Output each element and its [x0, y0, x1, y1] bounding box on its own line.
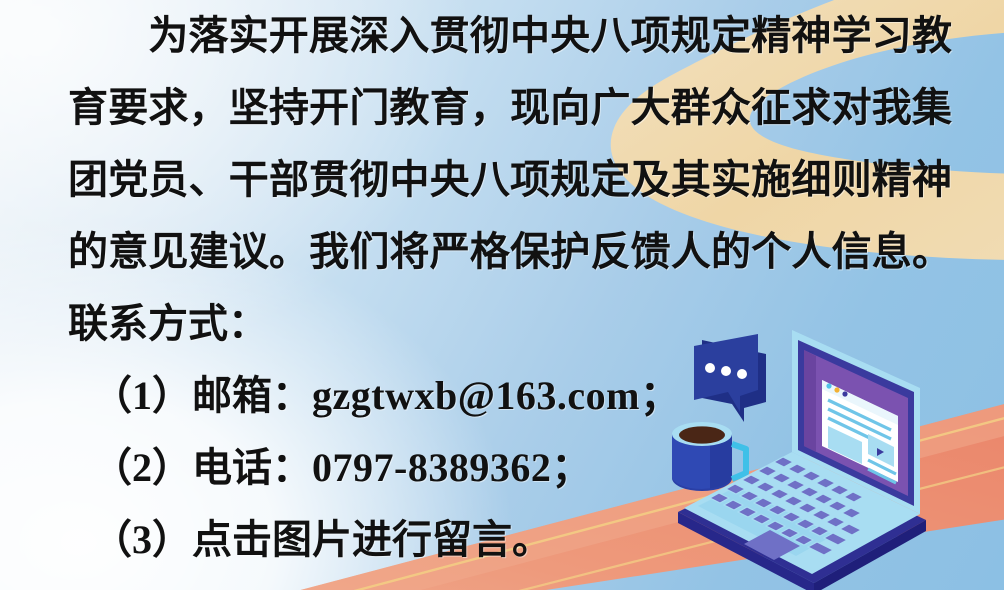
contact-item-email-label: 邮箱： — [192, 373, 312, 418]
contact-item-phone-marker: （2） — [92, 445, 192, 490]
contact-item-email-marker: （1） — [92, 373, 192, 418]
body-paragraph-text: 为落实开展深入贯彻中央八项规定精神学习教育要求，坚持开门教育，现向广大群众征求对… — [68, 13, 952, 274]
body-paragraph: 为落实开展深入贯彻中央八项规定精神学习教育要求，坚持开门教育，现向广大群众征求对… — [0, 0, 1004, 288]
coffee-mug-icon — [672, 422, 746, 491]
contact-item-image-label: 点击图片进行留言。 — [192, 517, 552, 562]
poster-canvas: 为落实开展深入贯彻中央八项规定精神学习教育要求，坚持开门教育，现向广大群众征求对… — [0, 0, 1004, 590]
contact-item-phone-label: 电话： — [192, 445, 312, 490]
contact-item-image-marker: （3） — [92, 517, 192, 562]
contact-item-phone-value[interactable]: 0797-8389362； — [312, 445, 592, 490]
laptop-illustration[interactable] — [648, 330, 1004, 590]
chat-bubble-icon — [694, 334, 766, 422]
contact-item-email-value[interactable]: gzgtwxb@163.com； — [312, 373, 681, 418]
